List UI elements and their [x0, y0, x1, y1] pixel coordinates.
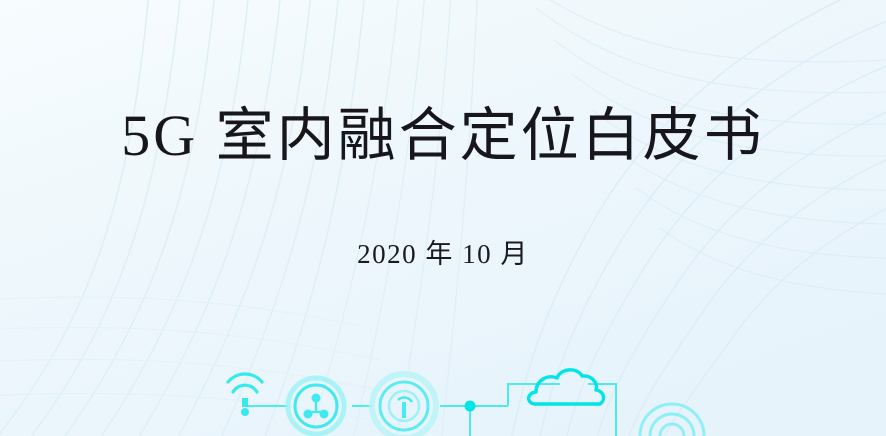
- hub-node-icon: [288, 378, 344, 434]
- wifi-signal-icon: [228, 374, 262, 416]
- cloud-icon: [529, 370, 604, 404]
- connector-lines: [247, 384, 616, 436]
- document-cover-page: 5G 室内融合定位白皮书 2020 年 10 月: [0, 0, 886, 436]
- page-subtitle-date: 2020 年 10 月: [0, 232, 886, 271]
- signal-ripple-icon: [640, 404, 704, 436]
- antenna-ring-icon: [372, 374, 436, 436]
- link-node-dot: [465, 401, 476, 412]
- title-block: 5G 室内融合定位白皮书: [0, 102, 886, 170]
- background-contour-pattern: [0, 0, 886, 436]
- iot-network-diagram: [0, 344, 886, 436]
- page-title: 5G 室内融合定位白皮书: [0, 102, 886, 170]
